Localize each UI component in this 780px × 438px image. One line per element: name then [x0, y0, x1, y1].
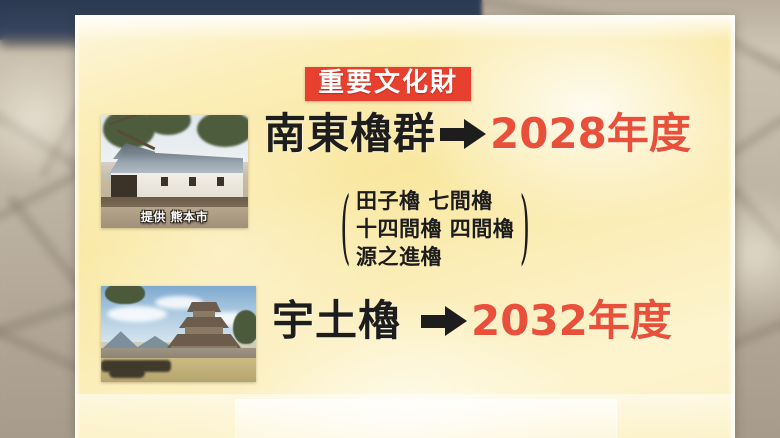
sublist-line-3: 源之進櫓: [356, 245, 514, 270]
uto-yagura-photo: [101, 286, 256, 382]
nantou-yagura-name: 南東櫓群: [264, 113, 436, 155]
uto-yagura-year: 2032年度: [471, 300, 672, 342]
sublist-line-1: 田子櫓 七間櫓: [356, 189, 514, 214]
uto-yagura-name: 宇土櫓: [272, 300, 401, 342]
photo2-tree-topleft: [105, 286, 145, 304]
photo1-window-3: [217, 177, 224, 186]
photo1-credit-caption: 提供 熊本市: [101, 208, 248, 225]
open-paren: (: [340, 189, 350, 270]
photo1-doorway-1: [111, 175, 137, 199]
photo2-tree-right: [233, 310, 256, 344]
board-right-edge: [728, 15, 735, 438]
board-left-edge: [75, 15, 80, 438]
nantou-yagura-headline: 南東櫓群 2028年度: [264, 113, 691, 155]
photo2-cloud-1: [107, 306, 167, 322]
sublist-line-2: 十四間櫓 四間櫓: [356, 217, 514, 242]
nantou-yagura-photo: 提供 熊本市: [101, 115, 248, 228]
photo2-foreground-rock: [109, 368, 145, 378]
board-top-sheen: [75, 15, 735, 41]
important-cultural-property-banner: 重要文化財: [305, 67, 471, 101]
nantou-yagura-sublist: ( 田子櫓 七間櫓 十四間櫓 四間櫓 源之進櫓 ): [337, 189, 533, 269]
right-arrow-icon: [440, 119, 486, 149]
sublist-open-paren-wrap: (: [337, 189, 354, 269]
photo1-window-1: [161, 177, 168, 186]
row-uto-yagura: 宇土櫓 2032年度: [101, 286, 672, 382]
presentation-board: 重要文化財 提供 熊本市 南東櫓群: [75, 15, 735, 438]
sublist-lines: 田子櫓 七間櫓 十四間櫓 四間櫓 源之進櫓: [354, 189, 516, 269]
right-arrow-icon: [421, 306, 467, 336]
close-paren: ): [520, 189, 530, 270]
uto-yagura-headline: 宇土櫓 2032年度: [272, 300, 672, 342]
board-stand-clip: [235, 399, 617, 438]
photo1-window-2: [189, 177, 196, 186]
sublist-close-paren-wrap: ): [516, 189, 533, 269]
nantou-yagura-year: 2028年度: [490, 113, 691, 155]
